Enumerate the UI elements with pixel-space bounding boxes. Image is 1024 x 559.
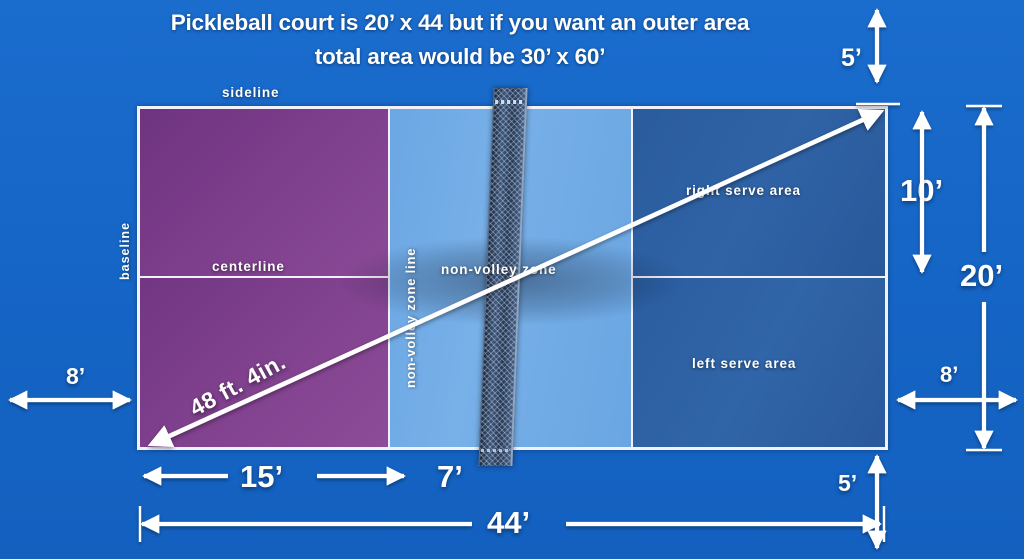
net-bottom-tape xyxy=(481,449,511,452)
page-title: Pickleball court is 20’ x 44 but if you … xyxy=(60,6,860,74)
label-right-serve-area: right serve area xyxy=(686,183,801,198)
dimension-nvz-depth: 7’ xyxy=(437,459,463,495)
pickleball-court-diagram: Pickleball court is 20’ x 44 but if you … xyxy=(0,0,1024,559)
title-line-1: Pickleball court is 20’ x 44 but if you … xyxy=(171,10,750,35)
label-non-volley-zone: non-volley zone xyxy=(441,262,557,277)
dimension-top-outer: 5’ xyxy=(841,44,862,73)
label-sideline: sideline xyxy=(222,85,279,100)
dimension-baseline-to-nvz: 15’ xyxy=(240,459,283,495)
net-top-tape xyxy=(495,100,525,104)
label-non-volley-zone-line: non-volley zone line xyxy=(403,248,418,388)
dimension-left-outer: 8’ xyxy=(66,363,85,390)
dimension-right-outer: 8’ xyxy=(940,362,958,388)
court-quadrant-top-left xyxy=(140,109,390,278)
dimension-court-length: 44’ xyxy=(487,505,530,541)
title-line-2: total area would be 30’ x 60’ xyxy=(60,40,860,74)
label-centerline: centerline xyxy=(212,259,285,274)
dimension-court-width: 20’ xyxy=(960,258,1003,294)
label-left-serve-area: left serve area xyxy=(692,356,796,371)
dimension-inner-half-width: 10’ xyxy=(900,173,943,209)
label-baseline: baseline xyxy=(118,222,132,280)
dimension-bottom-outer: 5’ xyxy=(838,470,857,497)
